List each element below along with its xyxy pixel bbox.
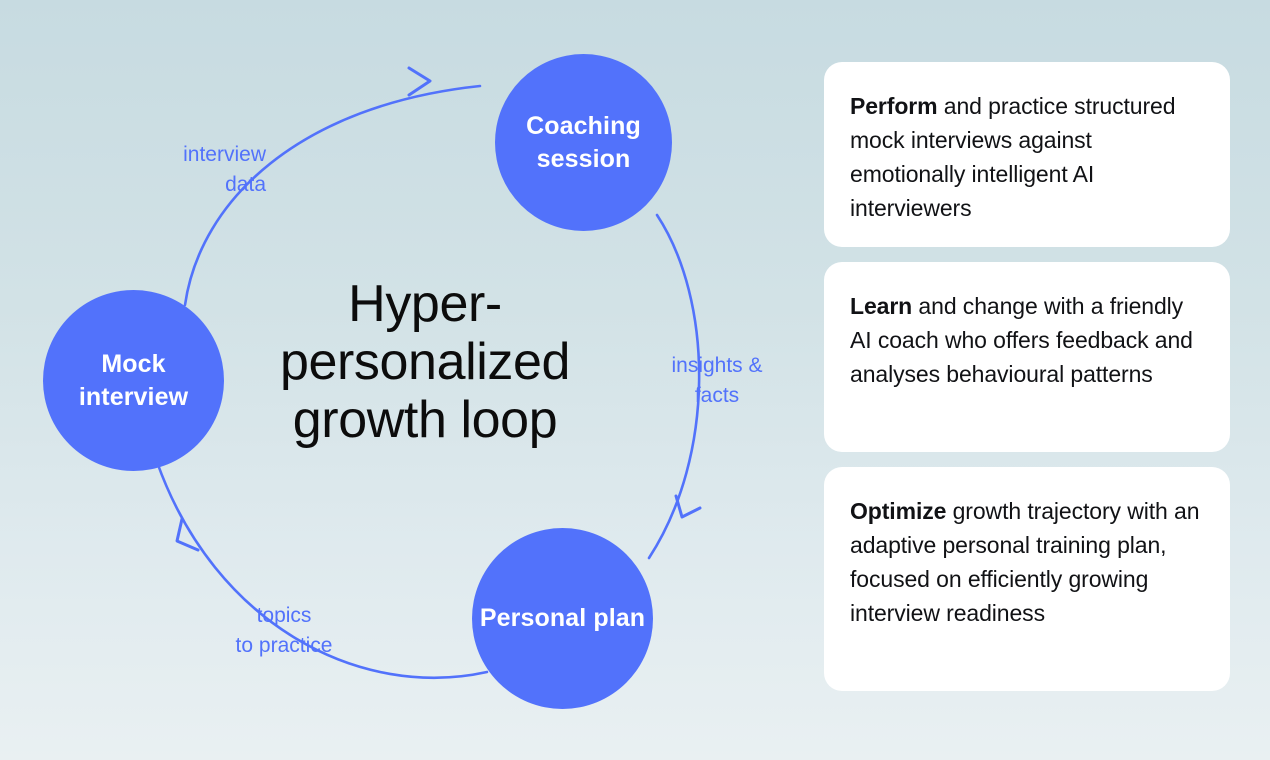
arrowhead-coaching-to-plan bbox=[676, 496, 700, 517]
node-coaching-session[interactable]: Coaching session bbox=[495, 54, 672, 231]
edge-label-interview-data: interview data bbox=[110, 140, 266, 200]
node-personal-plan-label: Personal plan bbox=[480, 602, 645, 635]
feature-card-learn: Learn and change with a friendly AI coac… bbox=[824, 262, 1230, 452]
node-coaching-session-label: Coaching session bbox=[501, 110, 666, 176]
arrowhead-mock-to-coaching bbox=[409, 68, 430, 95]
feature-card-optimize-lead: Optimize bbox=[850, 498, 946, 524]
growth-loop-diagram: Coaching session Mock interview Personal… bbox=[0, 0, 810, 760]
feature-card-perform-lead: Perform bbox=[850, 93, 938, 119]
feature-card-optimize: Optimize growth trajectory with an adapt… bbox=[824, 467, 1230, 691]
arrowhead-plan-to-mock bbox=[177, 519, 198, 550]
node-personal-plan[interactable]: Personal plan bbox=[472, 528, 653, 709]
edge-label-topics-to-practice: topics to practice bbox=[198, 601, 370, 661]
node-mock-interview[interactable]: Mock interview bbox=[43, 290, 224, 471]
feature-card-perform: Perform and practice structured mock int… bbox=[824, 62, 1230, 247]
infographic-canvas: Coaching session Mock interview Personal… bbox=[0, 0, 1270, 760]
feature-cards-list: Perform and practice structured mock int… bbox=[824, 62, 1230, 691]
feature-card-learn-lead: Learn bbox=[850, 293, 912, 319]
node-mock-interview-label: Mock interview bbox=[49, 348, 218, 414]
diagram-title: Hyper- personalized growth loop bbox=[245, 275, 605, 450]
edge-label-insights-facts: insights & facts bbox=[642, 351, 792, 411]
